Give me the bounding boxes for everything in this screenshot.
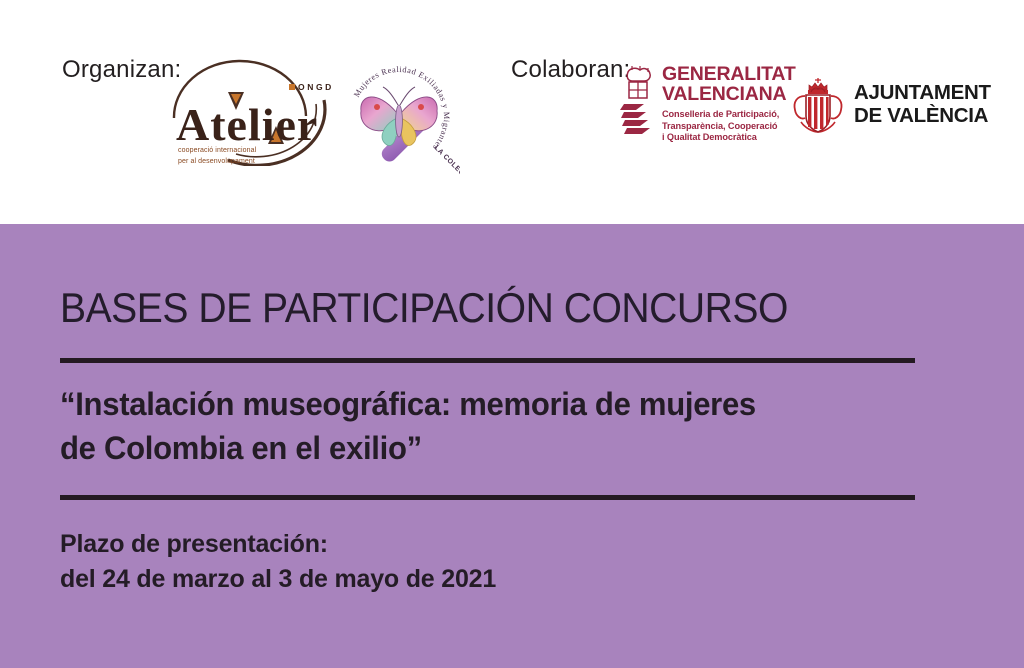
- colaboran-label: Colaboran:: [511, 56, 630, 84]
- deadline-label: Plazo de presentación:: [60, 527, 496, 562]
- colectiva-handle-text: LA COLECTIVA: [433, 144, 460, 178]
- generalitat-sub-line3: i Qualitat Democràtica: [662, 132, 780, 144]
- deadline-dates: del 24 de marzo al 3 de mayo de 2021: [60, 562, 496, 597]
- contest-title: “Instalación museográfica: memoria de mu…: [60, 382, 797, 470]
- generalitat-title-line1: GENERALITAT: [662, 64, 780, 84]
- divider-top: [60, 358, 915, 363]
- generalitat-valenciana-logo: GENERALITAT VALENCIANA Conselleria de Pa…: [620, 64, 772, 146]
- purple-content-band: BASES DE PARTICIPACIÓN CONCURSO “Instala…: [0, 224, 1024, 668]
- poster-canvas: Organizan: Atelier ONGD: [0, 0, 1024, 668]
- ajuntament-title-line2: DE VALÈNCIA: [854, 105, 991, 128]
- la-colectiva-logo: Mujeres Realidad Exiliadas y Migrantes L…: [338, 56, 460, 178]
- deadline-block: Plazo de presentación: del 24 de marzo a…: [60, 527, 496, 597]
- logo-band: Organizan: Atelier ONGD: [0, 0, 1024, 224]
- ajuntament-coat-of-arms-icon: [789, 76, 847, 138]
- page-title: BASES DE PARTICIPACIÓN CONCURSO: [60, 284, 788, 332]
- divider-bottom: [60, 495, 915, 500]
- generalitat-sub-line2: Transparència, Cooperació: [662, 121, 780, 133]
- svg-text:per al desenvolupament: per al desenvolupament: [178, 158, 255, 165]
- generalitat-emblem-icon: [620, 66, 656, 138]
- ajuntament-title-line1: AJUNTAMENT: [854, 82, 991, 105]
- svg-text:cooperació internacional: cooperació internacional: [178, 147, 257, 154]
- atelier-logo-graphic: Atelier ONGD cooperació internacional pe…: [166, 56, 336, 166]
- organizan-label: Organizan:: [62, 56, 181, 84]
- generalitat-sub-line1: Conselleria de Participació,: [662, 109, 780, 121]
- svg-text:Atelier: Atelier: [176, 99, 318, 150]
- svg-text:ONGD: ONGD: [298, 82, 334, 92]
- ajuntament-text-block: AJUNTAMENT DE VALÈNCIA: [854, 82, 991, 127]
- colectiva-logo-graphic: Mujeres Realidad Exiliadas y Migrantes L…: [338, 56, 460, 178]
- generalitat-text-block: GENERALITAT VALENCIANA Conselleria de Pa…: [662, 64, 780, 144]
- ajuntament-valencia-logo: AJUNTAMENT DE VALÈNCIA: [789, 76, 961, 138]
- generalitat-title-line2: VALENCIANA: [662, 84, 780, 104]
- atelier-ongd-logo: Atelier ONGD cooperació internacional pe…: [166, 56, 336, 166]
